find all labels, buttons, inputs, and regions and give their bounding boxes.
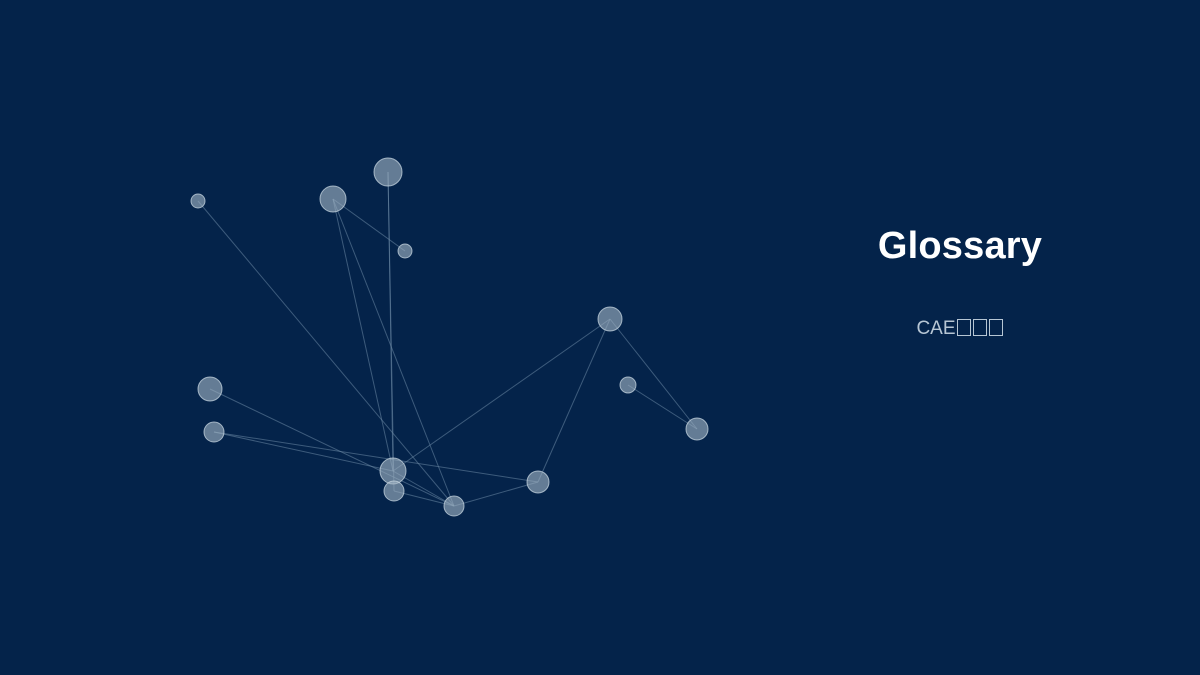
- graph-edge: [393, 319, 610, 471]
- graph-edge: [198, 201, 454, 506]
- graph-node[interactable]: [598, 307, 622, 331]
- graph-edge: [538, 319, 610, 482]
- graph-node[interactable]: [527, 471, 549, 493]
- network-node-graph: [0, 0, 1200, 675]
- slide-root: Glossary CAE: [0, 0, 1200, 675]
- graph-node[interactable]: [204, 422, 224, 442]
- graph-edge: [454, 482, 538, 506]
- graph-edge: [628, 385, 697, 429]
- graph-edge-layer: [198, 172, 697, 506]
- graph-node[interactable]: [374, 158, 402, 186]
- graph-edge: [333, 199, 393, 471]
- graph-node[interactable]: [191, 194, 205, 208]
- graph-edge: [214, 432, 538, 482]
- graph-node[interactable]: [398, 244, 412, 258]
- graph-node[interactable]: [320, 186, 346, 212]
- graph-edge: [210, 389, 454, 506]
- graph-node-layer: [191, 158, 708, 516]
- graph-node[interactable]: [620, 377, 636, 393]
- graph-edge: [214, 432, 393, 471]
- graph-node[interactable]: [444, 496, 464, 516]
- graph-node[interactable]: [384, 481, 404, 501]
- graph-edge: [388, 172, 394, 491]
- graph-edge: [610, 319, 697, 429]
- graph-node[interactable]: [380, 458, 406, 484]
- graph-node[interactable]: [686, 418, 708, 440]
- graph-node[interactable]: [198, 377, 222, 401]
